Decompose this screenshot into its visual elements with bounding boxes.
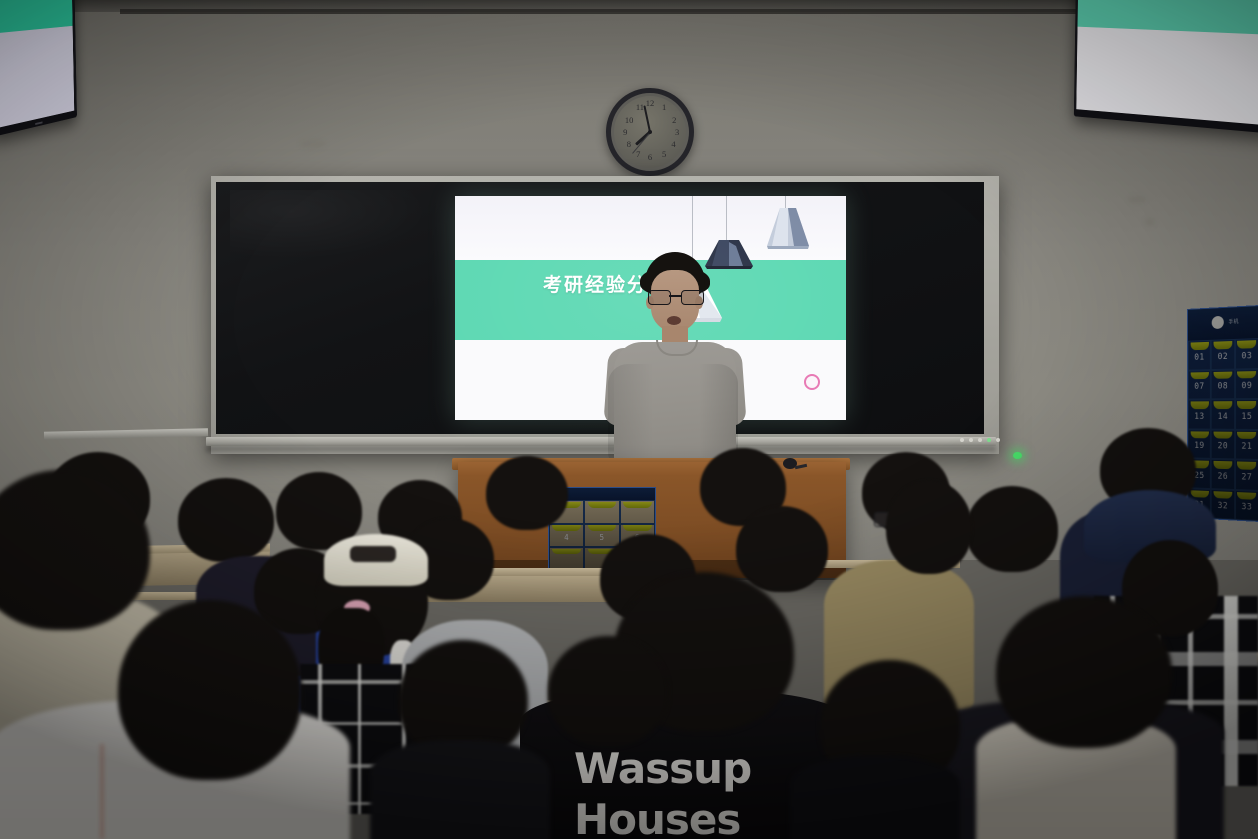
clock-numeral: 9 bbox=[620, 128, 631, 137]
pocket-flap bbox=[588, 525, 617, 531]
pocket-cell: 14 bbox=[1211, 399, 1235, 429]
chalk-piece bbox=[969, 438, 973, 442]
clock-center-pin bbox=[648, 130, 652, 134]
pocket-number: 09 bbox=[1241, 382, 1252, 392]
pocket-cell: 08 bbox=[1211, 369, 1235, 399]
projector-status-led bbox=[1013, 452, 1022, 459]
pocket-flap bbox=[588, 502, 617, 508]
pocket-chart-header: 手机 bbox=[1188, 306, 1258, 341]
clock-numeral: 6 bbox=[645, 153, 656, 162]
pocket-cell: 32 bbox=[1211, 489, 1235, 520]
pocket-flap bbox=[1237, 432, 1256, 440]
cap-gap bbox=[350, 546, 396, 562]
clock-numeral: 10 bbox=[623, 116, 636, 125]
lamp-cord bbox=[726, 196, 727, 242]
glasses-bridge bbox=[669, 295, 681, 297]
light-blue-pendant-lamp bbox=[763, 208, 813, 255]
pocket-flap bbox=[552, 525, 581, 531]
wall-mark bbox=[1128, 196, 1146, 203]
plaid-line bbox=[358, 664, 361, 814]
pocket-flap bbox=[1237, 401, 1256, 408]
glasses-lens bbox=[681, 290, 704, 305]
pocket-cell: 21 bbox=[1235, 429, 1258, 460]
chalk-piece bbox=[987, 438, 991, 442]
hoodie-print-line1: Wassup bbox=[574, 744, 751, 793]
pocket-cell: 15 bbox=[1235, 399, 1258, 429]
pocket-cell: 09 bbox=[1235, 369, 1258, 400]
pocket-flap bbox=[1190, 402, 1208, 409]
pocket-chart-grid: 01 02 03 07 08 09 13 14 15 19 20 21 25 2… bbox=[1188, 338, 1258, 521]
student-head bbox=[118, 600, 302, 780]
microphone-icon bbox=[783, 458, 805, 472]
student-dark-top bbox=[370, 740, 550, 839]
clock-numeral: 5 bbox=[659, 150, 670, 159]
pocket-flap bbox=[623, 525, 652, 531]
clock-face: 12 1 2 3 4 5 6 7 8 9 10 11 bbox=[614, 96, 686, 168]
pocket-flap bbox=[552, 549, 581, 555]
slide-accent-dot bbox=[804, 374, 820, 390]
chalk-tray bbox=[960, 438, 1002, 442]
presenter bbox=[604, 252, 744, 472]
pocket-cell: 01 bbox=[1188, 340, 1211, 370]
pocket-number: 26 bbox=[1218, 472, 1229, 482]
pocket-number: 21 bbox=[1241, 442, 1252, 452]
pocket-flap bbox=[1214, 371, 1233, 379]
blackboard-sheen bbox=[230, 190, 430, 260]
pocket-flap bbox=[1237, 341, 1256, 349]
ledge-shadow bbox=[206, 446, 996, 452]
pocket-cell bbox=[584, 500, 619, 523]
pocket-number: 20 bbox=[1218, 442, 1229, 452]
student-head bbox=[486, 456, 568, 530]
wall-mark bbox=[300, 140, 326, 148]
hoodie-print-line2: Houses bbox=[574, 795, 740, 839]
pocket-number: 33 bbox=[1241, 502, 1252, 512]
pocket-cell: 02 bbox=[1211, 339, 1235, 370]
pocket-flap bbox=[1214, 401, 1233, 408]
pocket-flap bbox=[1214, 431, 1233, 438]
pocket-number: 01 bbox=[1194, 353, 1204, 363]
pocket-flap bbox=[1190, 490, 1208, 498]
pocket-chart-logo-icon bbox=[1212, 316, 1224, 329]
pocket-cell: 27 bbox=[1235, 459, 1258, 490]
student-head bbox=[996, 596, 1172, 748]
chalk-piece bbox=[960, 438, 964, 442]
pocket-number: 4 bbox=[564, 533, 569, 542]
student-head bbox=[736, 506, 828, 592]
clock-numeral: 8 bbox=[623, 140, 634, 149]
pocket-cell: 5 bbox=[584, 524, 619, 547]
shirt-seam bbox=[100, 744, 104, 839]
pocket-number: 02 bbox=[1218, 352, 1229, 362]
student-head bbox=[966, 486, 1058, 572]
clock-numeral: 1 bbox=[659, 103, 670, 112]
pocket-cell: 4 bbox=[549, 524, 584, 547]
pocket-flap bbox=[1237, 371, 1256, 379]
pocket-cell: 33 bbox=[1235, 490, 1258, 521]
pocket-cell: 26 bbox=[1211, 459, 1235, 490]
pocket-flap bbox=[1237, 492, 1256, 500]
wall-monitor-left-screen bbox=[0, 0, 74, 130]
pocket-number: 19 bbox=[1194, 441, 1204, 451]
pocket-flap bbox=[1214, 341, 1233, 349]
plaid-line bbox=[1224, 596, 1238, 786]
clock-numeral: 2 bbox=[669, 116, 680, 125]
chalk-piece bbox=[996, 438, 1000, 442]
classroom-photo: 12 1 2 3 4 5 6 7 8 9 10 11 bbox=[0, 0, 1258, 839]
pocket-number: 27 bbox=[1241, 472, 1252, 482]
clock-numeral: 3 bbox=[672, 128, 683, 137]
chalk-piece bbox=[978, 438, 982, 442]
glasses-icon bbox=[648, 290, 702, 304]
student-head bbox=[548, 636, 668, 746]
wall-mark bbox=[1145, 218, 1155, 226]
phone-pocket-chart-wall: 手机 01 02 03 07 08 09 13 14 15 19 20 21 2… bbox=[1187, 305, 1258, 522]
wall-monitor-right-screen bbox=[1076, 0, 1258, 126]
pocket-cell: 20 bbox=[1211, 429, 1235, 459]
clock-minute-hand bbox=[644, 105, 651, 132]
pocket-cell bbox=[549, 547, 584, 570]
wall-clock: 12 1 2 3 4 5 6 7 8 9 10 11 bbox=[606, 88, 694, 176]
pocket-number: 15 bbox=[1241, 412, 1252, 422]
pocket-number: 14 bbox=[1218, 412, 1229, 422]
pocket-number: 08 bbox=[1218, 382, 1229, 392]
clock-numeral: 4 bbox=[668, 140, 679, 149]
blackboard-ledge bbox=[206, 437, 996, 446]
pocket-number: 13 bbox=[1194, 412, 1204, 422]
pocket-flap bbox=[1214, 461, 1233, 469]
pocket-flap bbox=[1190, 372, 1208, 380]
pocket-flap bbox=[623, 502, 652, 508]
pocket-flap bbox=[1190, 342, 1208, 350]
pocket-flap bbox=[1237, 462, 1256, 470]
pocket-cell: 07 bbox=[1188, 370, 1211, 400]
wall-monitor-right bbox=[1074, 0, 1258, 134]
pocket-cell bbox=[620, 500, 655, 523]
pocket-number: 07 bbox=[1194, 382, 1204, 392]
pocket-cell: 13 bbox=[1188, 400, 1211, 430]
pocket-number: 03 bbox=[1241, 351, 1252, 361]
pocket-flap bbox=[1214, 491, 1233, 499]
student-dark-top bbox=[790, 756, 960, 839]
pocket-cell: 03 bbox=[1235, 338, 1258, 369]
student-head bbox=[178, 478, 274, 562]
glasses-lens bbox=[648, 290, 671, 305]
presenter-mouth bbox=[667, 316, 681, 325]
wall-monitor-left bbox=[0, 0, 77, 137]
student-head bbox=[886, 480, 972, 574]
pocket-chart-logo-text: 手机 bbox=[1228, 318, 1238, 325]
pocket-number: 32 bbox=[1218, 501, 1229, 511]
pocket-number: 5 bbox=[599, 533, 604, 542]
pocket-flap bbox=[1190, 431, 1208, 438]
